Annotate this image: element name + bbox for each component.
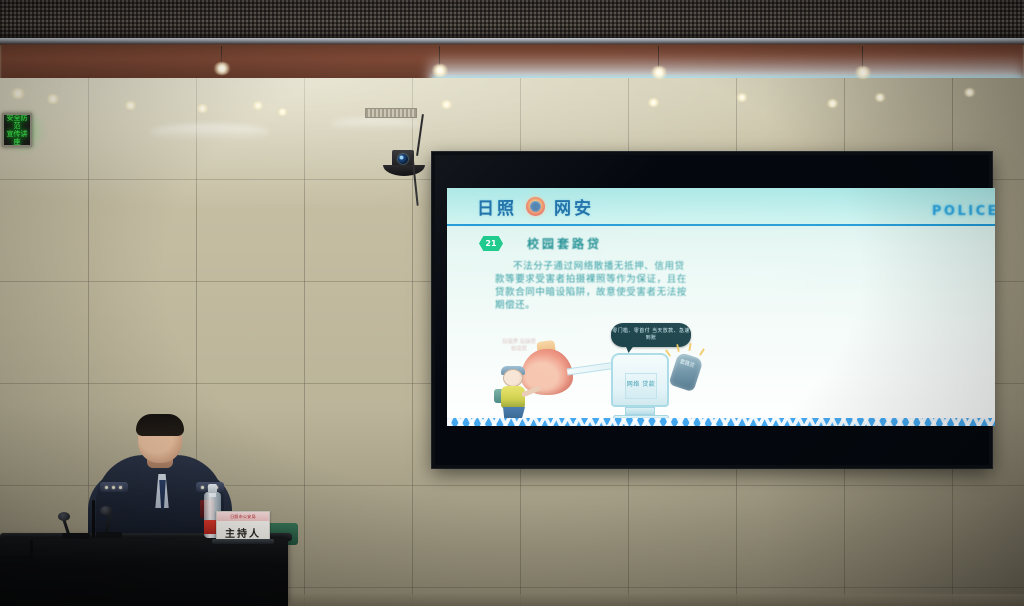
light-rod [658, 46, 659, 68]
spotlight [440, 100, 453, 109]
spotlight [10, 88, 26, 99]
spotlight [252, 101, 264, 110]
rank-pip [105, 486, 108, 489]
microphone-base-right[interactable] [96, 532, 122, 538]
police-badge-icon [526, 197, 545, 216]
spotlight [196, 104, 209, 113]
microphone-head-left[interactable] [58, 512, 70, 521]
spotlight [213, 62, 231, 75]
money-bag-label: 无抵押 无担保 信用贷 [501, 339, 537, 353]
spotlight [826, 99, 839, 108]
slide-body: 21 校园套路贷 不法分子通过网络散播无抵押、信用贷款等要求受害者拍摄裸照等作为… [447, 235, 995, 426]
wall-specular-reflection [150, 124, 270, 140]
slide-brand-left: 日照 [477, 194, 517, 219]
spotlight [874, 93, 886, 102]
spotlight [647, 98, 660, 107]
section-title: 校园套路贷 [527, 235, 602, 252]
loan-monitor-figure: 网络 贷款 [611, 353, 669, 407]
student-character [493, 369, 541, 425]
slide-section-row: 21 校园套路贷 [479, 235, 995, 252]
spotlight [46, 94, 60, 104]
officer-hair [136, 414, 184, 436]
display-panel: 日照 网安 POLICE 21 校园套路贷 不法分子通过网络散播无抵押、信用贷款… [435, 155, 989, 465]
light-rod [862, 46, 863, 68]
monitor-arm [567, 362, 617, 376]
spotlight [431, 64, 449, 77]
section-number-badge: 21 [479, 236, 503, 251]
nameplate-org-text: 日照市公安局 [230, 514, 256, 520]
led-sign-text: 安全防范 宣传讲座 [4, 114, 30, 146]
photo-scene: 安全防范 宣传讲座 日照 网安 POLICE [0, 0, 1024, 606]
slide-brand-right: 网安 [554, 194, 594, 219]
video-conference-camera [383, 150, 427, 184]
name-plate: 日照市公安局 主持人 [216, 511, 270, 541]
rank-pip [119, 486, 122, 489]
monitor-screen: 网络 贷款 [625, 373, 657, 399]
spotlight [650, 66, 668, 79]
light-rod [439, 46, 440, 66]
bottle-cap [208, 484, 217, 493]
camera-lens-icon [398, 154, 408, 164]
slide-latin-word: POLICE [932, 204, 995, 219]
spotlight [963, 88, 976, 97]
desk-cable [92, 500, 95, 538]
air-vent-grille [365, 108, 417, 118]
slide-illustration: 零门槛、零首付 当天放款、急速到账 无抵押 无担保 信用贷 网络 贷款 [493, 327, 723, 426]
student-head [503, 369, 523, 387]
monitor-stand [625, 407, 655, 415]
spotlight [854, 66, 872, 79]
student-body [501, 386, 525, 408]
ceiling-acoustic-panel [0, 0, 1024, 40]
slide-body-text: 不法分子通过网络散播无抵押、信用贷款等要求受害者拍摄裸照等作为保证，且在贷款合同… [495, 260, 691, 312]
microphone-head-right[interactable] [100, 506, 112, 515]
nameplate-org-strip: 日照市公安局 [217, 512, 269, 521]
presentation-display[interactable]: 日照 网安 POLICE 21 校园套路贷 不法分子通过网络散播无抵押、信用贷款… [432, 152, 992, 468]
slide-header: 日照 网安 POLICE [447, 188, 995, 226]
desk-cable [30, 540, 33, 560]
wall-specular-reflection [330, 118, 420, 130]
rank-pip [112, 486, 115, 489]
led-display-sign: 安全防范 宣传讲座 [2, 113, 32, 147]
presentation-slide: 日照 网安 POLICE 21 校园套路贷 不法分子通过网络散播无抵押、信用贷款… [447, 188, 995, 426]
nameplate-name-text: 主持人 [225, 525, 261, 540]
monitor-label: 网络 贷款 [626, 379, 656, 388]
slide-brand-title: 日照 网安 [477, 194, 594, 219]
microphone-base-left[interactable] [62, 533, 90, 539]
slide-footer-chevron-band [447, 418, 995, 426]
spotlight [124, 101, 137, 110]
nameplate-holder [212, 539, 274, 544]
student-arm [521, 385, 541, 397]
spotlight [277, 108, 288, 116]
speech-bubble-text: 零门槛、零首付 当天放款、急速到账 [611, 328, 691, 342]
camera-mount [383, 165, 425, 176]
spotlight [736, 93, 748, 102]
presenter-desk [0, 538, 288, 606]
